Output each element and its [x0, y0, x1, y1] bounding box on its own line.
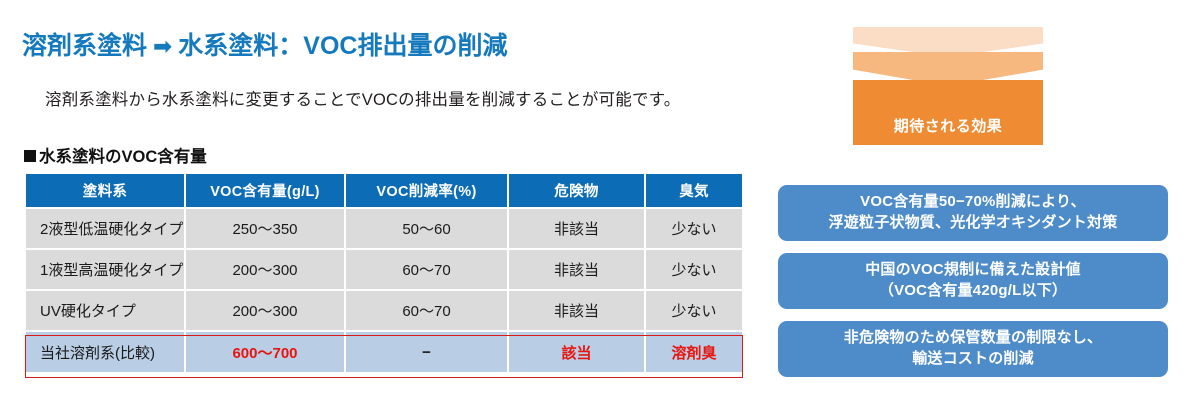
callout-line-2: （VOC含有量420g/L以下） — [865, 281, 1081, 302]
cell-odor: 溶剤臭 — [645, 331, 742, 372]
effect-callout-china-regulation: 中国のVOC規制に備えた設計値 （VOC含有量420g/L以下） — [778, 253, 1168, 309]
callout-line-2: 浮遊粒子状物質、光化学オキシダント対策 — [829, 213, 1118, 234]
column-header-voc-reduction: VOC削減率(%) — [345, 174, 508, 208]
effect-callout-storage-transport: 非危険物のため保管数量の制限なし、 輸送コストの削減 — [778, 321, 1168, 377]
page-title-part1: 溶剤系塗料 — [22, 32, 147, 60]
cell-paint-type: 1液型高温硬化タイプ — [26, 249, 185, 290]
column-header-paint-type: 塗料系 — [26, 174, 185, 208]
cell-hazardous: 該当 — [508, 331, 645, 372]
cell-paint-type: UV硬化タイプ — [26, 290, 185, 331]
callout-line-1: VOC含有量50−70%削減により、 — [829, 192, 1118, 213]
table-row-highlighted: 当社溶剤系(比較) 600〜700 − 該当 溶剤臭 — [26, 331, 742, 372]
cell-voc-content: 600〜700 — [185, 331, 345, 372]
cell-voc-reduction: 50〜60 — [345, 208, 508, 249]
callout-line-1: 非危険物のため保管数量の制限なし、 — [844, 328, 1102, 349]
table-row: UV硬化タイプ 200〜300 60〜70 非該当 少ない — [26, 290, 742, 331]
cell-hazardous: 非該当 — [508, 249, 645, 290]
bullet-square-icon — [24, 150, 36, 162]
cell-odor: 少ない — [645, 208, 742, 249]
voc-content-table: 塗料系 VOC含有量(g/L) VOC削減率(%) 危険物 臭気 2液型低温硬化… — [26, 174, 742, 372]
column-header-hazardous: 危険物 — [508, 174, 645, 208]
cell-voc-reduction: − — [345, 331, 508, 372]
cell-paint-type: 当社溶剤系(比較) — [26, 331, 185, 372]
table-row: 1液型高温硬化タイプ 200〜300 60〜70 非該当 少ない — [26, 249, 742, 290]
table-header-row: 塗料系 VOC含有量(g/L) VOC削減率(%) 危険物 臭気 — [26, 174, 742, 208]
cell-voc-content: 200〜300 — [185, 290, 345, 331]
cell-voc-reduction: 60〜70 — [345, 249, 508, 290]
cell-voc-reduction: 60〜70 — [345, 290, 508, 331]
page-title: 溶剤系塗料➡水系塗料：VOC排出量の削減 — [22, 26, 507, 62]
cell-voc-content: 200〜300 — [185, 249, 345, 290]
cell-paint-type: 2液型低温硬化タイプ — [26, 208, 185, 249]
cell-hazardous: 非該当 — [508, 290, 645, 331]
section-heading-label: 水系塗料のVOC含有量 — [39, 148, 207, 166]
table-row: 2液型低温硬化タイプ 250〜350 50〜60 非該当 少ない — [26, 208, 742, 249]
column-header-voc-content: VOC含有量(g/L) — [185, 174, 345, 208]
section-heading: 水系塗料のVOC含有量 — [24, 143, 207, 167]
arrow-right-icon: ➡ — [147, 33, 178, 59]
lead-paragraph: 溶剤系塗料から水系塗料に変更することでVOCの排出量を削減することが可能です。 — [45, 86, 680, 110]
callout-line-2: 輸送コストの削減 — [844, 349, 1102, 370]
effects-panel: 期待される効果 VOC含有量50−70%削減により、 浮遊粒子状物質、光化学オキ… — [760, 0, 1186, 406]
expected-effects-banner: 期待される効果 — [853, 27, 1043, 145]
page-title-part2: 水系塗料：VOC排出量の削減 — [178, 32, 507, 60]
cell-odor: 少ない — [645, 290, 742, 331]
left-content-panel: 溶剤系塗料➡水系塗料：VOC排出量の削減 溶剤系塗料から水系塗料に変更することで… — [0, 0, 760, 406]
cell-odor: 少ない — [645, 249, 742, 290]
cell-voc-content: 250〜350 — [185, 208, 345, 249]
effect-callout-voc-reduction: VOC含有量50−70%削減により、 浮遊粒子状物質、光化学オキシダント対策 — [778, 185, 1168, 241]
cell-hazardous: 非該当 — [508, 208, 645, 249]
banner-label: 期待される効果 — [853, 115, 1043, 136]
callout-line-1: 中国のVOC規制に備えた設計値 — [865, 260, 1081, 281]
column-header-odor: 臭気 — [645, 174, 742, 208]
